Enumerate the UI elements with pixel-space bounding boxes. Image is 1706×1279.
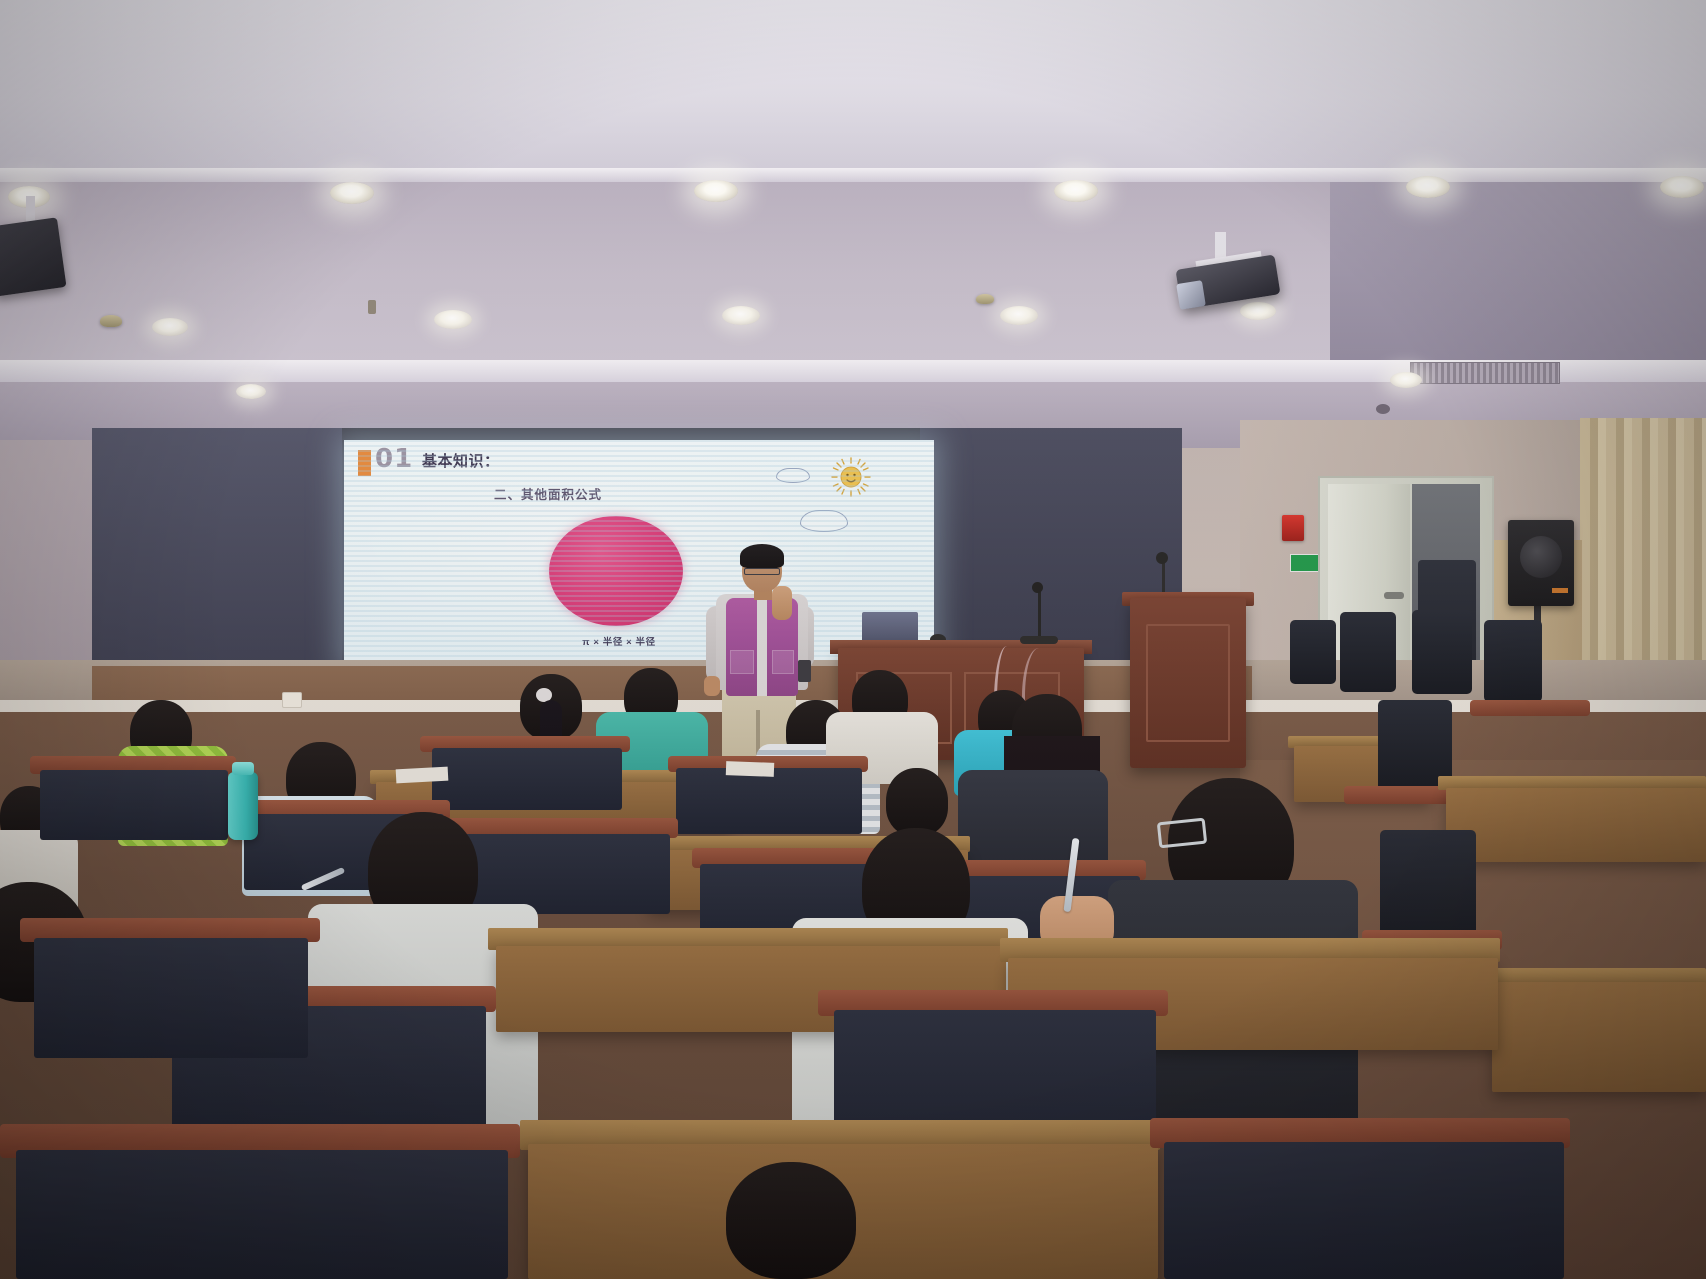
chair [1380,830,1476,946]
ceiling-downlight [434,310,472,329]
chair [1484,620,1542,702]
ceiling-downlight [1054,180,1098,202]
presenter-vest-pocket [772,650,794,674]
student-head [886,768,948,836]
presenter-vest-pocket [730,650,754,674]
bench-back [1164,1142,1564,1279]
eyeglasses-icon [744,568,780,575]
bottle-cap [232,762,254,775]
ceiling-downlight [236,384,266,399]
paper-sheet [396,767,449,784]
projection-scanlines [344,440,934,668]
bench-back [676,768,862,834]
bench-back [40,770,228,840]
bench-rail [1470,700,1590,716]
projector-lens [1176,280,1206,310]
bench-back [432,748,622,810]
paper-sheet [726,761,774,777]
fire-alarm-button [1282,515,1304,541]
lectern-panel [1146,624,1230,742]
classroom-photo: 01 基本知识： 二、其他面积公式 π × 半径 × 半径 [0,0,1706,1279]
chair [1340,612,1396,692]
bench-back [34,938,308,1058]
ceiling-downlight [1000,306,1038,325]
ceiling-downlight [1240,302,1276,320]
led-screen-wall-left [92,428,342,666]
presenter-vest-opening [757,600,767,696]
gooseneck-microphone [1032,582,1043,593]
projected-slide: 01 基本知识： 二、其他面积公式 π × 半径 × 半径 [344,440,934,668]
wall-outlet [282,692,302,708]
ceiling-downlight [722,306,760,325]
table [1492,982,1706,1092]
bench-back [16,1150,508,1279]
presenter-raised-hand [772,586,792,620]
ceiling-downlight [694,180,738,202]
sprinkler-head [368,300,376,314]
ceiling-downlight [1660,176,1704,198]
door-handle[interactable] [1384,592,1404,599]
ceiling-vent-grille [1410,362,1560,384]
microphone-base [1020,636,1058,644]
presenter-hair [740,544,784,568]
presenter-hand [704,676,720,696]
ceiling-upper [0,0,1706,178]
smoke-detector [976,294,994,304]
speaker-cone [1520,536,1562,578]
ceiling-downlight [1406,176,1450,198]
gooseneck-microphone-pole [1038,588,1041,640]
ceiling-downlight [330,182,374,204]
chair [1290,620,1336,684]
belt-mic-pack [798,660,811,682]
ceiling-right-pocket [1330,182,1706,382]
ceiling-downlight [1390,372,1422,388]
ceiling-downlight [152,318,188,336]
chair [1412,610,1472,694]
eyeglasses-icon [1157,818,1207,849]
emergency-notice-sign [1290,554,1320,572]
student-head [726,1162,856,1279]
speaker-badge [1552,588,1568,593]
table [1446,788,1706,862]
smoke-detector [100,315,122,327]
ceiling-sensor [1376,404,1390,414]
bench-back [456,834,670,914]
water-bottle [228,772,258,840]
lectern-microphone [1156,552,1168,564]
ceiling-projector [0,217,67,296]
